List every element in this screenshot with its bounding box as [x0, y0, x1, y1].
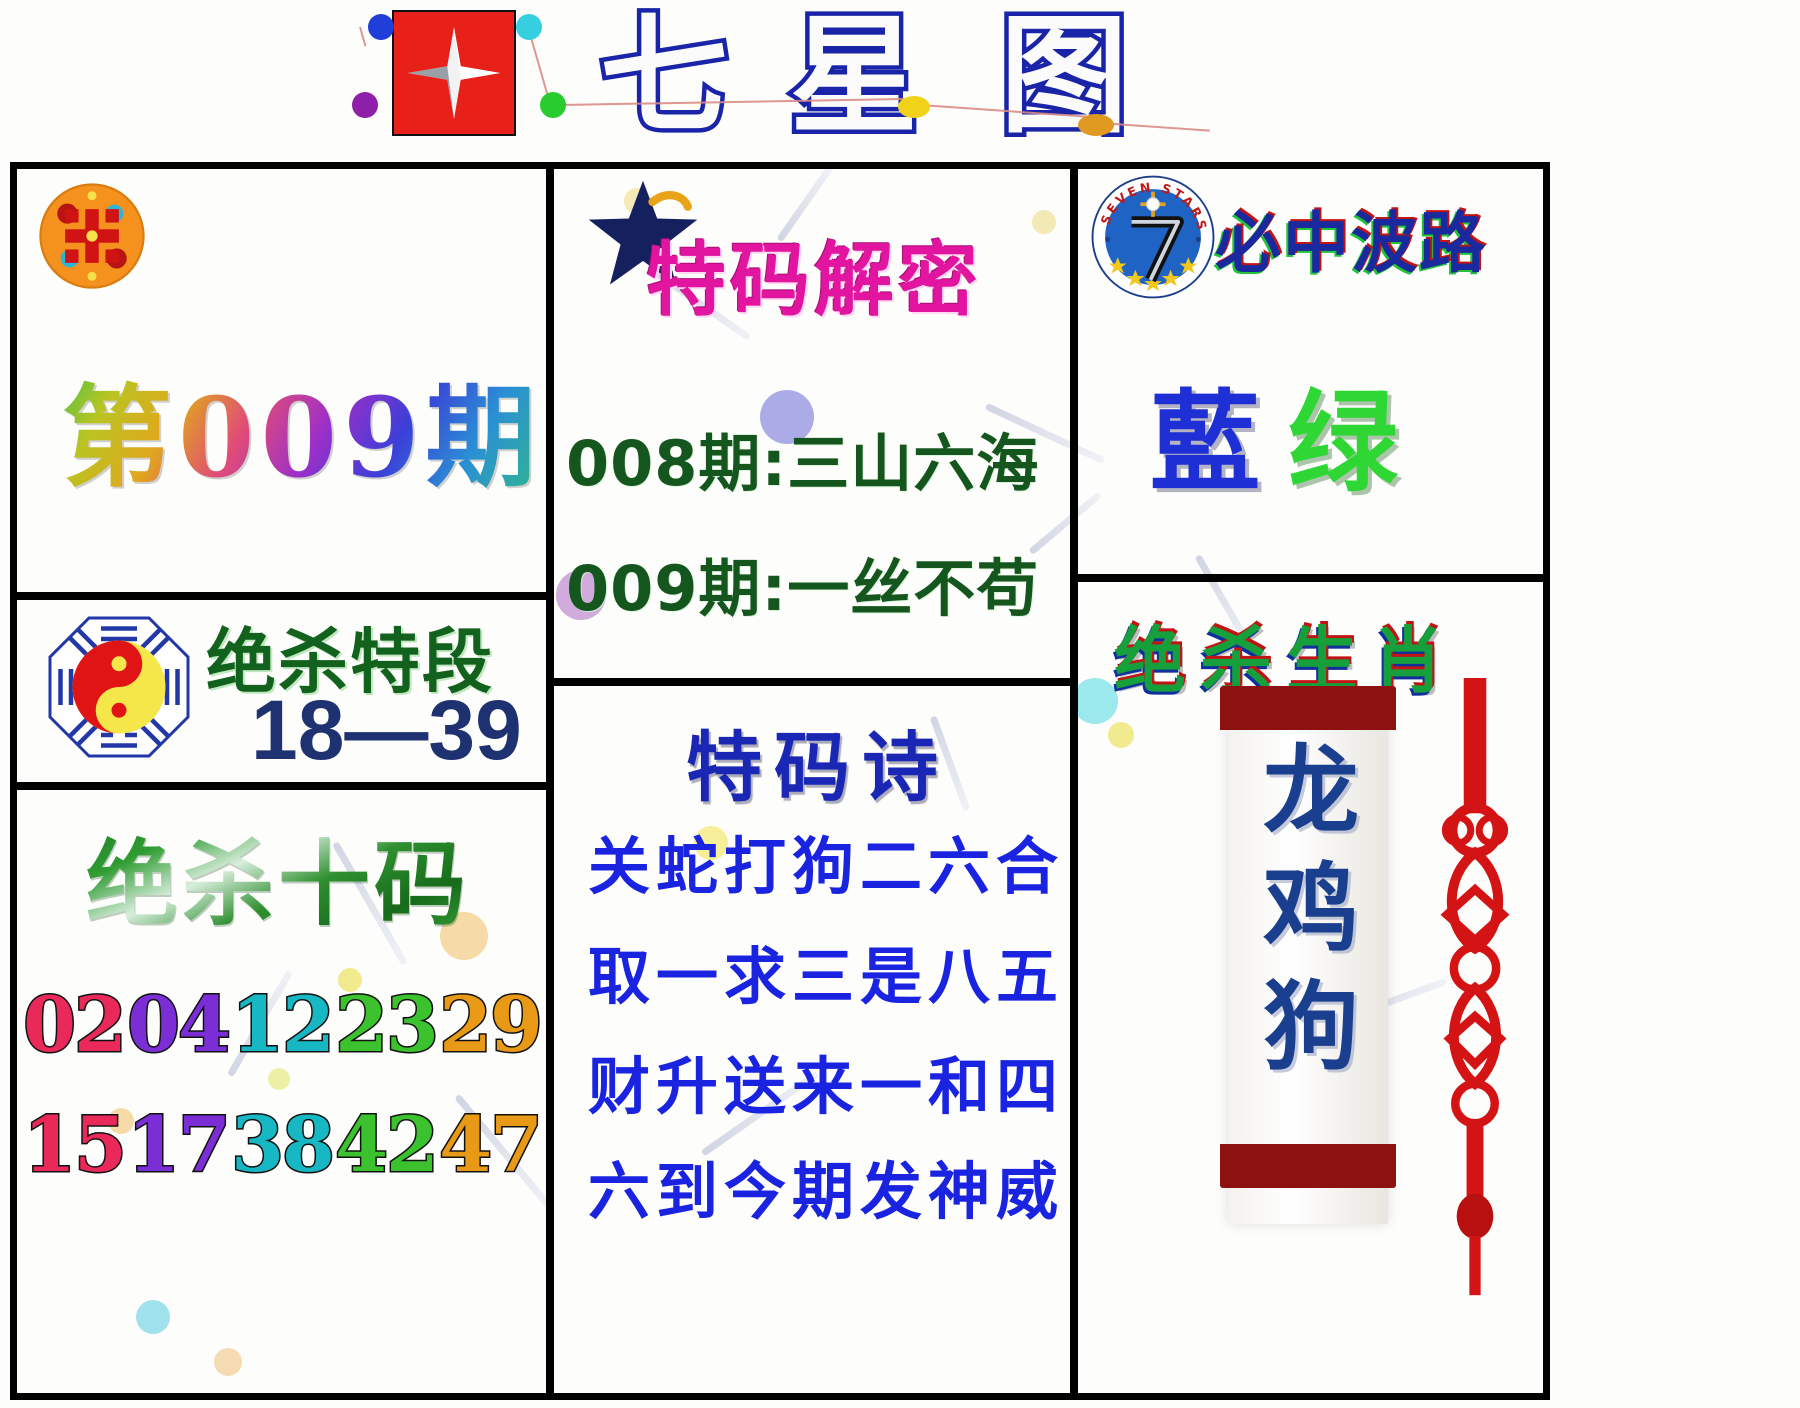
- ten-codes-row-2: 15 17 38 42 47: [22, 1100, 542, 1189]
- divider-left-1: [10, 592, 554, 600]
- divider-right-1: [1070, 574, 1550, 582]
- zodiac-animal: 鸡: [1236, 850, 1386, 968]
- code-number: 29: [439, 980, 541, 1069]
- jiemi-cell: 特码解密 008期:三山六海 009期:一丝不苟: [556, 168, 1068, 680]
- divider-vertical-left: [546, 162, 554, 1400]
- zodiac-animal: 狗: [1236, 968, 1386, 1086]
- code-number: 04: [127, 980, 229, 1069]
- zodiac-animal-list: 龙 鸡 狗: [1236, 732, 1386, 1086]
- seven-stars-badge-icon: SEVEN STARS: [1090, 174, 1216, 300]
- bolu-char-2: 中: [1283, 190, 1351, 286]
- swastika-sun-badge-icon: [36, 180, 148, 292]
- code-number: 23: [335, 980, 437, 1069]
- poem-line: 取一求三是八五: [588, 926, 1064, 1016]
- jiemi-line-prev: 008期:三山六海: [566, 413, 1039, 503]
- code-number: 02: [23, 980, 125, 1069]
- bolu-colors: 藍绿: [1150, 353, 1426, 513]
- bolu-title: 必中波路: [1215, 190, 1487, 286]
- code-number: 12: [231, 980, 333, 1069]
- header-node-orange: [1078, 114, 1114, 136]
- star-glyph-icon: [406, 25, 502, 121]
- wave-color-green: 绿: [1288, 379, 1426, 507]
- scroll-top-bar: [1220, 686, 1396, 730]
- bolu-char-4: 路: [1419, 190, 1487, 286]
- issue-cell: 第009期: [16, 168, 544, 598]
- zodiac-animal: 龙: [1236, 732, 1386, 850]
- chinese-knot-icon: [1432, 678, 1518, 1298]
- poem-title: 特码诗: [686, 706, 950, 816]
- title-char-1: 七: [600, 2, 728, 152]
- poem-cell: 特码诗 关蛇打狗二六合 取一求三是八五 财升送来一和四 六到今期发神威: [556, 686, 1068, 1392]
- ten-codes-cell: 绝杀十码 02 04 12 23 29 15 17 38 42 47: [16, 790, 544, 1392]
- header-node-blue: [368, 14, 394, 40]
- header-node-cyan: [516, 14, 542, 40]
- jiemi-title: 特码解密: [646, 216, 982, 332]
- poem-line: 六到今期发神威: [588, 1141, 1064, 1231]
- header-node-yellow: [898, 96, 930, 118]
- divider-left-2: [10, 782, 554, 790]
- code-number: 17: [127, 1100, 229, 1189]
- duan-cell: 绝杀特段 18—39: [16, 600, 544, 785]
- code-number: 42: [335, 1100, 437, 1189]
- ten-codes-title: 绝杀十码: [86, 810, 470, 943]
- bolu-char-1: 必: [1215, 190, 1283, 286]
- scroll-bottom-bar: [1220, 1144, 1396, 1188]
- title-char-2: 星: [790, 2, 918, 152]
- red-star-logo: [392, 10, 516, 136]
- duan-range: 18—39: [251, 682, 522, 779]
- bagua-yinyang-icon: [44, 612, 194, 762]
- header-node-green: [540, 92, 566, 118]
- page-header: 七 星 图: [0, 0, 1800, 160]
- issue-label: 第009期: [62, 348, 542, 508]
- code-number: 38: [231, 1100, 333, 1189]
- zodiac-cell: 绝杀生肖 龙 鸡 狗: [1080, 582, 1542, 1392]
- code-number: 15: [23, 1100, 125, 1189]
- bolu-cell: SEVEN STARS 必中波路 藍绿: [1080, 168, 1542, 580]
- divider-middle-1: [546, 678, 1078, 686]
- bolu-char-3: 波: [1351, 190, 1419, 286]
- jiemi-line-curr: 009期:一丝不苟: [566, 538, 1039, 628]
- wave-color-blue: 藍: [1150, 379, 1288, 507]
- ten-codes-row-1: 02 04 12 23 29: [22, 980, 542, 1069]
- poem-line: 关蛇打狗二六合: [588, 816, 1064, 906]
- divider-vertical-right: [1070, 162, 1078, 1400]
- poem-line: 财升送来一和四: [588, 1036, 1064, 1126]
- code-number: 47: [439, 1100, 541, 1189]
- header-node-purple: [352, 92, 378, 118]
